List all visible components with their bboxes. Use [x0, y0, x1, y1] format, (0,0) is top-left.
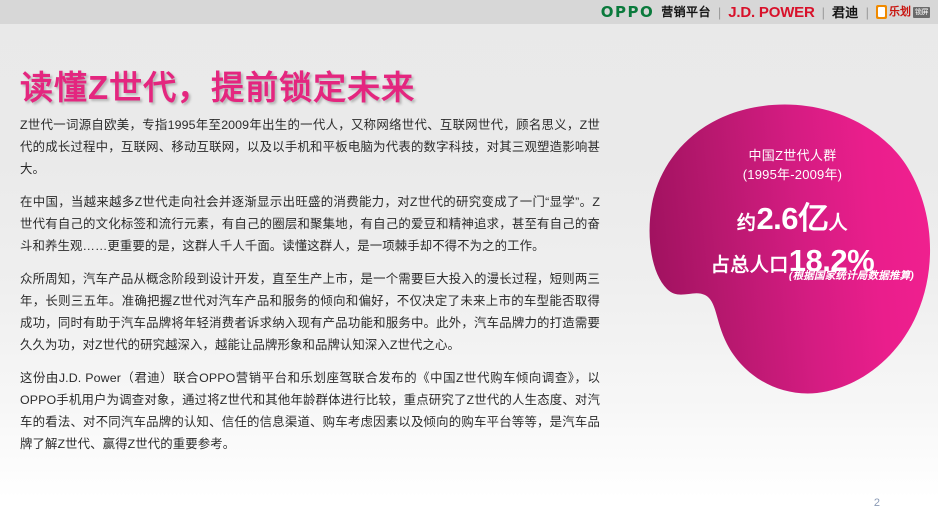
- oppo-logo: OPPO: [601, 5, 655, 20]
- jd-power-logo: J.D. POWER: [728, 5, 814, 20]
- logo-group: OPPO 营销平台 | J.D. POWER | 君迪 | 乐划 锁屏: [601, 5, 930, 20]
- body-paragraph-3: 众所周知，汽车产品从概念阶段到设计开发，直至生产上市，是一个需要巨大投入的漫长过…: [20, 268, 600, 356]
- page-title: 读懂Z世代，提前锁定未来: [20, 70, 415, 106]
- jundi-logo: 君迪: [832, 6, 859, 19]
- slide-canvas: OPPO 营销平台 | J.D. POWER | 君迪 | 乐划 锁屏 读懂Z世…: [0, 0, 938, 525]
- brand-logo-bar: OPPO 营销平台 | J.D. POWER | 君迪 | 乐划 锁屏: [0, 0, 938, 24]
- body-paragraph-4: 这份由J.D. Power（君迪）联合OPPO营销平台和乐划座驾联合发布的《中国…: [20, 367, 600, 455]
- logo-divider-1: |: [718, 6, 721, 19]
- lehua-lockscreen-logo: 乐划 锁屏: [876, 5, 930, 19]
- body-paragraph-1: Z世代一词源自欧美，专指1995年至2009年出生的一代人，又称网络世代、互联网…: [20, 114, 600, 180]
- logo-divider-2: |: [822, 6, 825, 19]
- lehua-mark-icon: [876, 5, 887, 19]
- logo-divider-3: |: [866, 6, 869, 19]
- article-body: Z世代一词源自欧美，专指1995年至2009年出生的一代人，又称网络世代、互联网…: [20, 114, 600, 455]
- body-paragraph-2: 在中国，当越来越多Z世代走向社会并逐渐显示出旺盛的消费能力，对Z世代的研究变成了…: [20, 191, 600, 257]
- lehua-lockscreen-badge: 锁屏: [913, 7, 930, 18]
- lehua-logo-text: 乐划: [889, 7, 911, 18]
- population-infographic: 中国Z世代人群 (1995年-2009年) 约2.6亿人 占总人口18.2% (…: [645, 96, 938, 396]
- blob-shape-icon: [645, 96, 938, 396]
- page-number: 2: [874, 497, 880, 509]
- oppo-marketing-platform-label: 营销平台: [661, 6, 711, 18]
